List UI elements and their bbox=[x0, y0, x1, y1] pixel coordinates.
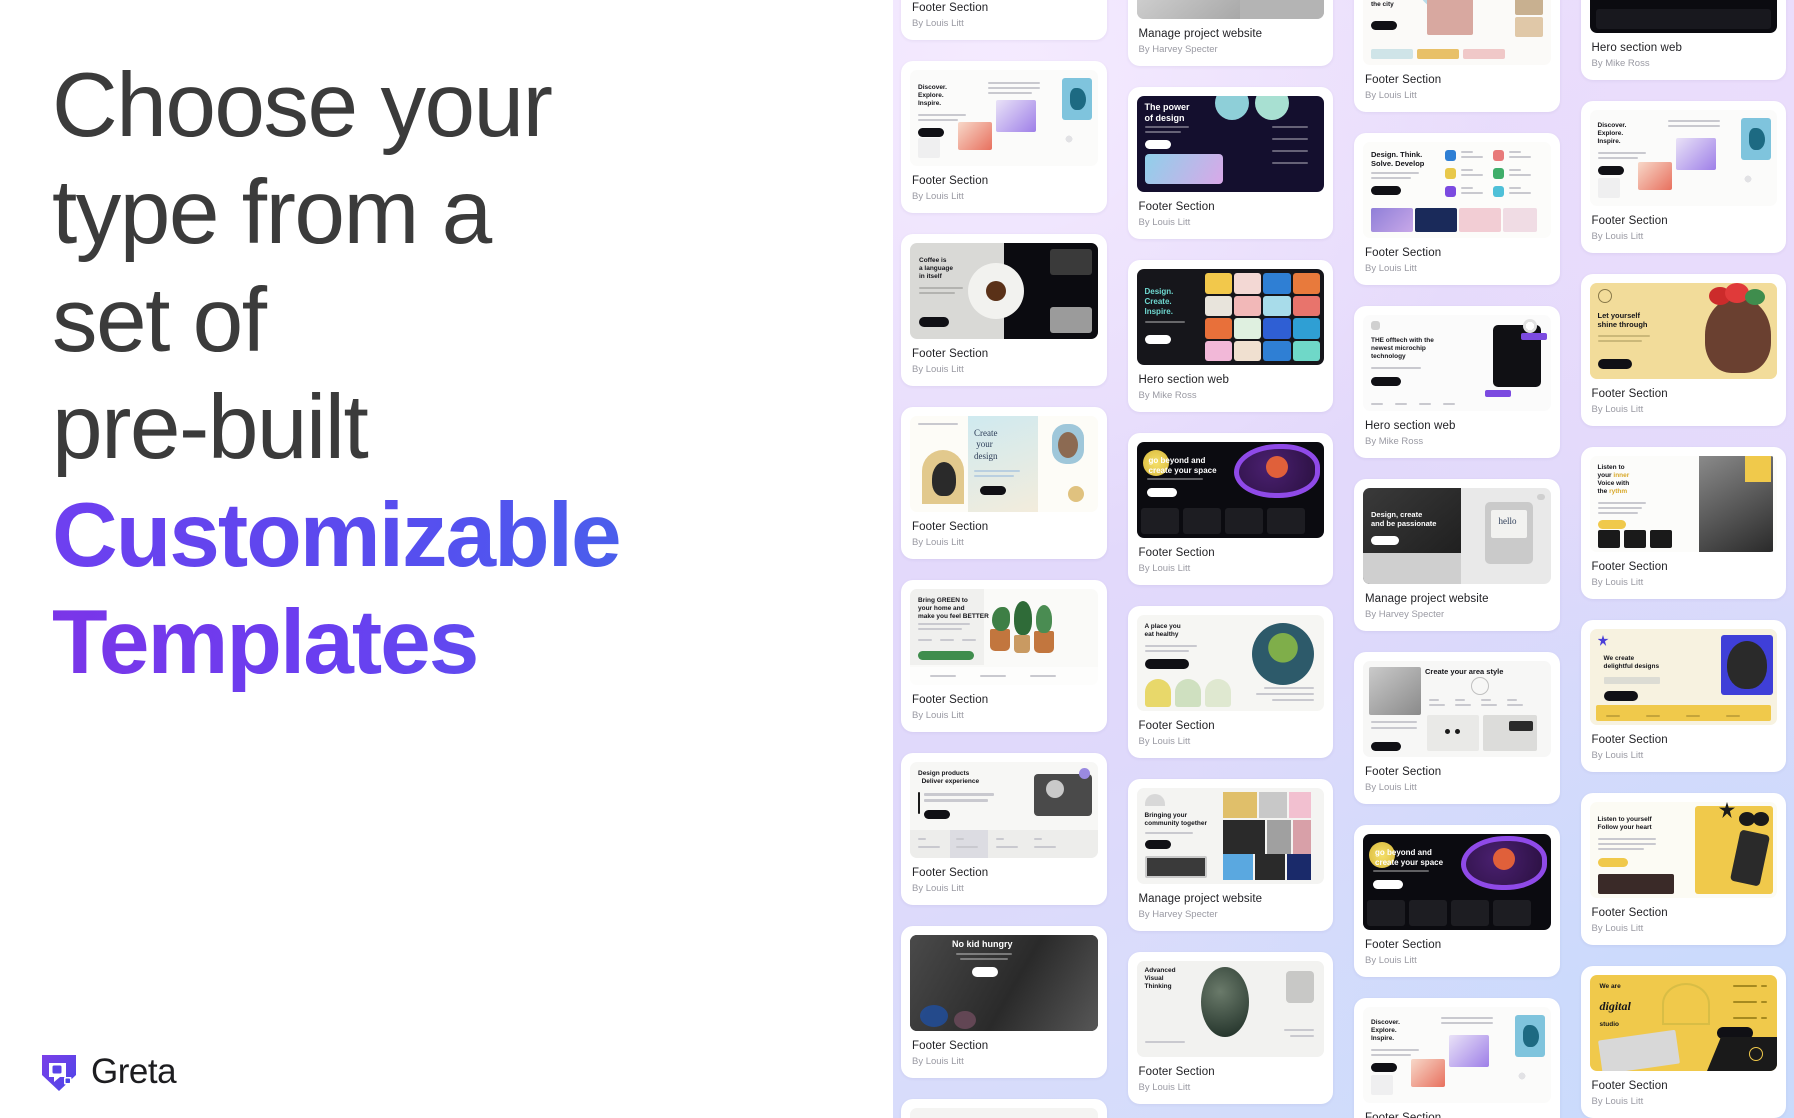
template-preview-we-create-delightful-designs: We createdelightful designs bbox=[1590, 629, 1778, 725]
template-title: Footer Section bbox=[910, 2, 1098, 14]
template-author: By Louis Litt bbox=[1137, 563, 1325, 574]
template-card[interactable]: We createdelightful designs Footer Secti… bbox=[1581, 620, 1787, 772]
hero-panel: Choose your type from a set of pre-built… bbox=[0, 0, 893, 1118]
template-title: Footer Section bbox=[1590, 907, 1778, 919]
template-gallery[interactable]: Footer Section By Louis Litt Discover.Ex… bbox=[893, 0, 1794, 1118]
template-author: By Louis Litt bbox=[910, 710, 1098, 721]
template-author: By Louis Litt bbox=[910, 883, 1098, 894]
template-preview-find-your-perfect-place: Find yourperfect placeto experiencethe c… bbox=[1363, 0, 1551, 65]
template-author: By Louis Litt bbox=[1590, 231, 1778, 242]
template-author: By Harvey Specter bbox=[1137, 44, 1325, 55]
headline-line-3: set of bbox=[52, 267, 812, 374]
gallery-column-2: Manage project website By Harvey Specter… bbox=[1128, 0, 1334, 1118]
template-title: Footer Section bbox=[1137, 1066, 1325, 1078]
template-preview-dark-footer-columns bbox=[910, 1108, 1098, 1118]
template-author: By Louis Litt bbox=[1363, 955, 1551, 966]
template-card[interactable]: go beyond andcreate your space Footer Se… bbox=[1128, 433, 1334, 585]
template-preview-advanced-visual-thinking: AdvancedVisualThinking bbox=[1137, 961, 1325, 1057]
template-card[interactable]: Bring GREEN toyour home andmake you feel… bbox=[901, 580, 1107, 732]
page-title: Choose your type from a set of pre-built… bbox=[52, 52, 812, 696]
template-card[interactable]: Manage project website By Harvey Specter bbox=[1128, 0, 1334, 66]
template-title: Footer Section bbox=[1590, 388, 1778, 400]
template-preview-discover-explore-inspire: Discover.Explore.Inspire. bbox=[910, 70, 1098, 166]
template-author: By Louis Litt bbox=[1363, 90, 1551, 101]
template-title: Footer Section bbox=[1363, 247, 1551, 259]
template-preview-a-place-you-eat-healthy: A place youeat healthy bbox=[1137, 615, 1325, 711]
template-card[interactable]: The powerof design Footer Section By Lo bbox=[1128, 87, 1334, 239]
template-author: By Louis Litt bbox=[1363, 782, 1551, 793]
template-author: By Louis Litt bbox=[910, 537, 1098, 548]
template-title: Footer Section bbox=[1363, 939, 1551, 951]
template-preview-let-yourself-shine-through: Let yourselfshine through bbox=[1590, 283, 1778, 379]
template-gallery-page: Choose your type from a set of pre-built… bbox=[0, 0, 1794, 1118]
template-author: By Mike Ross bbox=[1363, 436, 1551, 447]
headline-line-4: pre-built bbox=[52, 374, 812, 481]
template-title: Footer Section bbox=[1363, 766, 1551, 778]
template-author: By Mike Ross bbox=[1137, 390, 1325, 401]
template-card[interactable]: Discover.Explore.Inspire. Footer Sec bbox=[1581, 101, 1787, 253]
greta-shield-cursor-logo-icon bbox=[40, 1052, 78, 1092]
template-card[interactable]: Coffee isa languagein itself Footer Sect… bbox=[901, 234, 1107, 386]
template-title: Footer Section bbox=[1590, 734, 1778, 746]
template-card[interactable]: Design products Deliver experience bbox=[901, 753, 1107, 905]
template-author: By Louis Litt bbox=[910, 1056, 1098, 1067]
template-preview-coffee-is-a-language-in-itself: Coffee isa languagein itself bbox=[910, 243, 1098, 339]
template-preview-design-think-solve-develop: Design. Think.Solve. Develop bbox=[1363, 142, 1551, 238]
template-author: By Harvey Specter bbox=[1137, 909, 1325, 920]
template-title: Footer Section bbox=[910, 694, 1098, 706]
template-card[interactable]: Design. Think.Solve. Develop bbox=[1354, 133, 1560, 285]
template-preview-the-power-of-design-navy: The powerof design bbox=[1137, 96, 1325, 192]
template-card[interactable]: Footer Section By Louis Litt bbox=[901, 1099, 1107, 1118]
template-title: Footer Section bbox=[910, 348, 1098, 360]
gallery-column-3: Find yourperfect placeto experiencethe c… bbox=[1354, 0, 1560, 1118]
headline-accent-customizable: Customizable bbox=[52, 482, 812, 589]
template-preview-listen-to-yourself-follow-your-heart: Listen to yourselfFollow your heart bbox=[1590, 802, 1778, 898]
template-author: By Louis Litt bbox=[1137, 1082, 1325, 1093]
template-card[interactable]: Listen toyour innerVoice withthe rythm F… bbox=[1581, 447, 1787, 599]
template-card[interactable]: Create yourdesign Footer Section By Loui… bbox=[901, 407, 1107, 559]
brand-name: Greta bbox=[91, 1052, 176, 1092]
template-title: Hero section web bbox=[1137, 374, 1325, 386]
template-title: Hero section web bbox=[1363, 420, 1551, 432]
template-author: By Louis Litt bbox=[1137, 736, 1325, 747]
template-author: By Louis Litt bbox=[910, 18, 1098, 29]
template-card[interactable]: Listen to yourselfFollow your heart Foot… bbox=[1581, 793, 1787, 945]
template-preview-we-are-digital-studio: We are digital studio bbox=[1590, 975, 1778, 1071]
template-title: Footer Section bbox=[1590, 1080, 1778, 1092]
template-preview-discover-explore-inspire: Discover.Explore.Inspire. bbox=[1590, 110, 1778, 206]
template-card[interactable]: Discover.Explore.Inspire. Footer Sec bbox=[1354, 998, 1560, 1118]
template-card[interactable]: Footer Section By Louis Litt bbox=[901, 0, 1107, 40]
template-preview-beyond-and-create-your-space: go beyond andcreate your space bbox=[1137, 442, 1325, 538]
headline-line-2: type from a bbox=[52, 159, 812, 266]
template-author: By Louis Litt bbox=[1137, 217, 1325, 228]
template-card[interactable]: Discover.Explore.Inspire. bbox=[901, 61, 1107, 213]
template-preview-create-your-design: Create yourdesign bbox=[910, 416, 1098, 512]
gallery-column-4: Hero section web By Mike Ross Discover.E… bbox=[1581, 0, 1787, 1118]
template-card[interactable]: THE offtech with thenewest microchiptech… bbox=[1354, 306, 1560, 458]
template-card[interactable]: go beyond andcreate your space Footer Se… bbox=[1354, 825, 1560, 977]
template-title: Footer Section bbox=[1590, 561, 1778, 573]
template-title: Footer Section bbox=[910, 175, 1098, 187]
headline-accent-templates: Templates bbox=[52, 589, 812, 696]
template-title: Footer Section bbox=[1363, 74, 1551, 86]
template-card[interactable]: Design, createand be passionate hello Ma… bbox=[1354, 479, 1560, 631]
template-preview-still-offtech-newest-tech: THE offtech with thenewest microchiptech… bbox=[1363, 315, 1551, 411]
template-title: Footer Section bbox=[1590, 215, 1778, 227]
template-card[interactable]: Bringing yourcommunity together bbox=[1128, 779, 1334, 931]
template-card[interactable]: No kid hungry Footer Section By Louis Li… bbox=[901, 926, 1107, 1078]
template-preview-no-kid-hungry: No kid hungry bbox=[910, 935, 1098, 1031]
template-preview-beyond-and-create-your-space: go beyond andcreate your space bbox=[1363, 834, 1551, 930]
template-author: By Louis Litt bbox=[1590, 404, 1778, 415]
template-card[interactable]: A place youeat healthy Footer Section B bbox=[1128, 606, 1334, 758]
gallery-columns: Footer Section By Louis Litt Discover.Ex… bbox=[893, 0, 1794, 1118]
template-author: By Louis Litt bbox=[910, 191, 1098, 202]
template-preview-bringing-your-community-together: Bringing yourcommunity together bbox=[1137, 788, 1325, 884]
template-author: By Louis Litt bbox=[910, 364, 1098, 375]
headline-line-1: Choose your bbox=[52, 52, 812, 159]
template-card[interactable]: Let yourselfshine through Footer Section… bbox=[1581, 274, 1787, 426]
template-card[interactable]: Find yourperfect placeto experiencethe c… bbox=[1354, 0, 1560, 112]
template-preview-bring-green-to-your-home: Bring GREEN toyour home andmake you feel… bbox=[910, 589, 1098, 685]
template-author: By Harvey Specter bbox=[1363, 609, 1551, 620]
template-author: By Louis Litt bbox=[1590, 1096, 1778, 1107]
template-title: Footer Section bbox=[1137, 720, 1325, 732]
template-title: Manage project website bbox=[1363, 593, 1551, 605]
template-author: By Louis Litt bbox=[1590, 923, 1778, 934]
template-card[interactable]: AdvancedVisualThinking Footer Section By… bbox=[1128, 952, 1334, 1104]
template-preview-listen-to-your-inner-voice: Listen toyour innerVoice withthe rythm bbox=[1590, 456, 1778, 552]
template-card[interactable]: Hero section web By Mike Ross bbox=[1581, 0, 1787, 80]
template-preview-design-create-inspire-tiles: Design.Create.Inspire. bbox=[1137, 269, 1325, 365]
template-title: Footer Section bbox=[910, 521, 1098, 533]
template-preview-discover-explore-inspire: Discover.Explore.Inspire. bbox=[1363, 1007, 1551, 1103]
template-card[interactable]: Create your area style bbox=[1354, 652, 1560, 804]
brand-logo[interactable]: Greta bbox=[40, 1052, 176, 1092]
template-title: Manage project website bbox=[1137, 28, 1325, 40]
template-preview-grayscale-split-hero bbox=[1137, 0, 1325, 19]
template-card[interactable]: We are digital studio bbox=[1581, 966, 1787, 1118]
template-title: Footer Section bbox=[910, 867, 1098, 879]
template-author: By Louis Litt bbox=[1363, 263, 1551, 274]
template-preview-design-products-deliver-experience: Design products Deliver experience bbox=[910, 762, 1098, 858]
template-title: Manage project website bbox=[1137, 893, 1325, 905]
template-title: Footer Section bbox=[1363, 1112, 1551, 1118]
template-author: By Mike Ross bbox=[1590, 58, 1778, 69]
template-title: Footer Section bbox=[1137, 201, 1325, 213]
gallery-column-1: Footer Section By Louis Litt Discover.Ex… bbox=[901, 0, 1107, 1118]
template-author: By Louis Litt bbox=[1590, 577, 1778, 588]
template-preview-design-create-and-be-passionate: Design, createand be passionate hello bbox=[1363, 488, 1551, 584]
template-title: Footer Section bbox=[1137, 547, 1325, 559]
template-preview-create-your-own-area-style: Create your area style bbox=[1363, 661, 1551, 757]
template-preview-dark-hero-purple-accent bbox=[1590, 0, 1778, 33]
template-author: By Louis Litt bbox=[1590, 750, 1778, 761]
template-title: Hero section web bbox=[1590, 42, 1778, 54]
template-title: Footer Section bbox=[910, 1040, 1098, 1052]
template-card[interactable]: Design.Create.Inspire. Hero section web … bbox=[1128, 260, 1334, 412]
